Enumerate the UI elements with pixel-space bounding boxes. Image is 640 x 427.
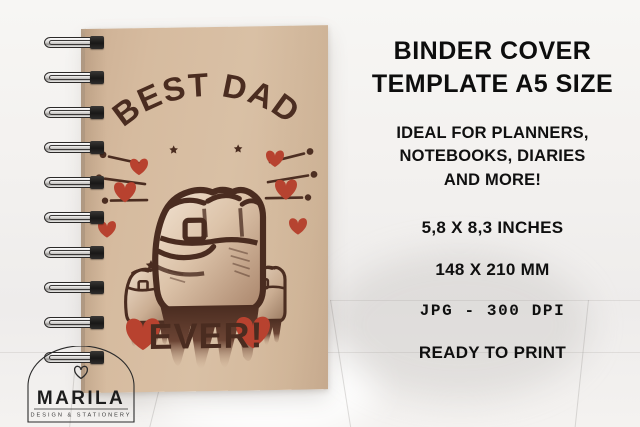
svg-text:BEST DAD: BEST DAD — [105, 64, 307, 133]
coil-ring — [44, 106, 104, 119]
logo-tagline-text: DESIGN & STATIONERY — [30, 413, 131, 419]
heart-outline-icon — [75, 366, 88, 378]
coil-ring — [44, 316, 104, 329]
ray-dot-group-right — [305, 148, 318, 201]
subtitle-line-1: IDEAL FOR PLANNERS, — [345, 122, 640, 145]
spec-format-dpi: JPG - 300 DPI — [345, 302, 640, 320]
title-line-2: TEMPLATE A5 SIZE — [345, 68, 640, 101]
spec-millimeters: 148 X 210 MM — [345, 260, 640, 280]
info-panel: BINDER COVER TEMPLATE A5 SIZE IDEAL FOR … — [345, 22, 640, 412]
coil-ring — [44, 211, 104, 224]
coil-ring — [44, 246, 104, 259]
coil-ring — [44, 71, 104, 84]
spiral-binding — [44, 24, 114, 394]
headline-bottom-group: EVER! — [126, 314, 270, 357]
coil-ring — [44, 141, 104, 154]
title-block: BINDER COVER TEMPLATE A5 SIZE — [345, 35, 640, 101]
brand-logo: MARILA DESIGN & STATIONERY — [22, 346, 140, 424]
coil-ring — [44, 36, 104, 49]
spec-ready-to-print: READY TO PRINT — [345, 343, 640, 363]
subtitle-line-3: AND MORE! — [345, 169, 640, 192]
title-line-1: BINDER COVER — [345, 35, 640, 68]
headline-bottom: EVER! — [148, 314, 263, 357]
binder-mockup: BEST DAD — [85, 29, 328, 393]
headline-top: BEST DAD — [105, 64, 307, 133]
coil-ring — [44, 176, 104, 189]
logo-brand-text: MARILA — [37, 388, 125, 409]
coil-ring — [44, 281, 104, 294]
logo-arch-frame — [28, 346, 134, 422]
subtitle-line-2: NOTEBOOKS, DIARIES — [345, 145, 640, 168]
spec-inches: 5,8 X 8,3 INCHES — [345, 218, 640, 238]
screenshot-canvas: BEST DAD — [0, 0, 640, 427]
cover-artwork: BEST DAD — [85, 25, 328, 393]
subtitle-block: IDEAL FOR PLANNERS, NOTEBOOKS, DIARIES A… — [345, 122, 640, 192]
